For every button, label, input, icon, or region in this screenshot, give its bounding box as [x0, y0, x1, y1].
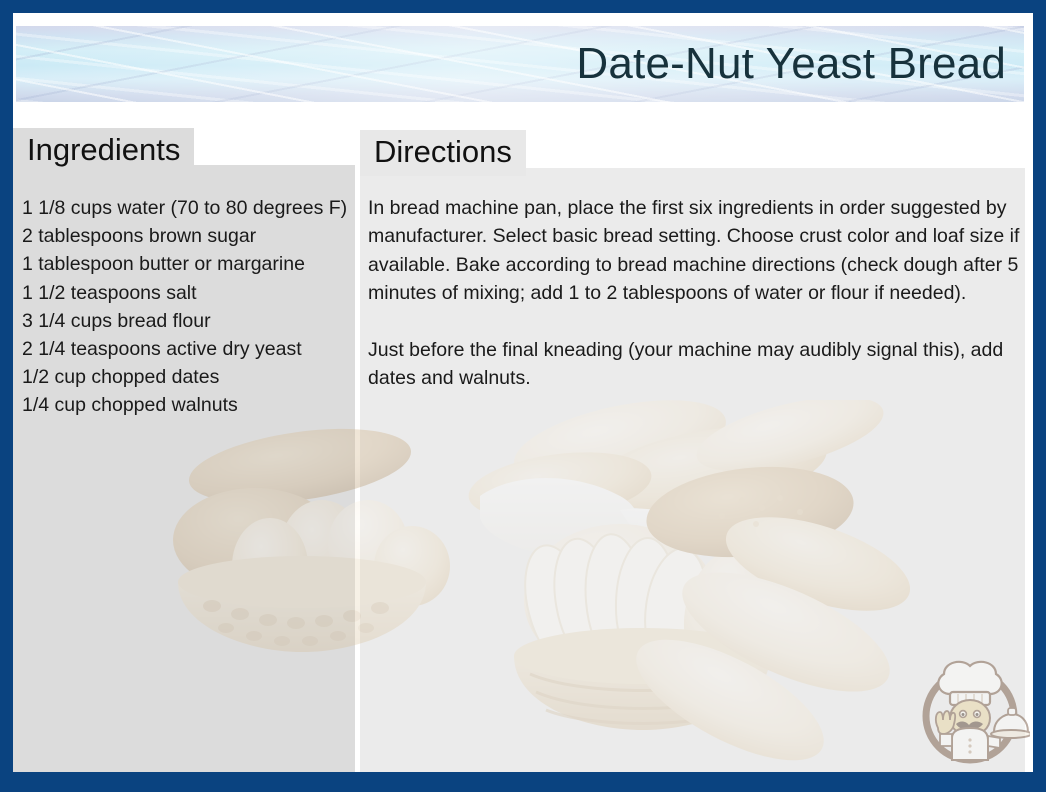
list-item: 1 1/8 cups water (70 to 80 degrees F) — [22, 194, 352, 222]
slide-border-top — [0, 0, 1046, 13]
page-title: Date-Nut Yeast Bread — [576, 41, 1006, 87]
slide-border-left — [0, 0, 13, 792]
list-item: 1/2 cup chopped dates — [22, 363, 352, 391]
directions-text: In bread machine pan, place the first si… — [368, 194, 1020, 392]
list-item: 2 1/4 teaspoons active dry yeast — [22, 335, 352, 363]
list-item: 1 1/2 teaspoons salt — [22, 279, 352, 307]
ingredients-heading: Ingredients — [13, 128, 194, 174]
list-item: 3 1/4 cups bread flour — [22, 307, 352, 335]
slide-border-right — [1033, 0, 1046, 792]
directions-heading: Directions — [360, 130, 526, 176]
recipe-slide: Date-Nut Yeast Bread Ingredients 1 1/8 c… — [0, 0, 1046, 792]
list-item: 1 tablespoon butter or margarine — [22, 250, 352, 278]
list-item: 2 tablespoons brown sugar — [22, 222, 352, 250]
directions-paragraph: In bread machine pan, place the first si… — [368, 194, 1020, 308]
title-banner: Date-Nut Yeast Bread — [16, 26, 1024, 102]
directions-paragraph: Just before the final kneading (your mac… — [368, 336, 1020, 393]
slide-border-bottom — [0, 772, 1046, 792]
list-item: 1/4 cup chopped walnuts — [22, 391, 352, 419]
ingredients-list: 1 1/8 cups water (70 to 80 degrees F) 2 … — [22, 194, 352, 420]
